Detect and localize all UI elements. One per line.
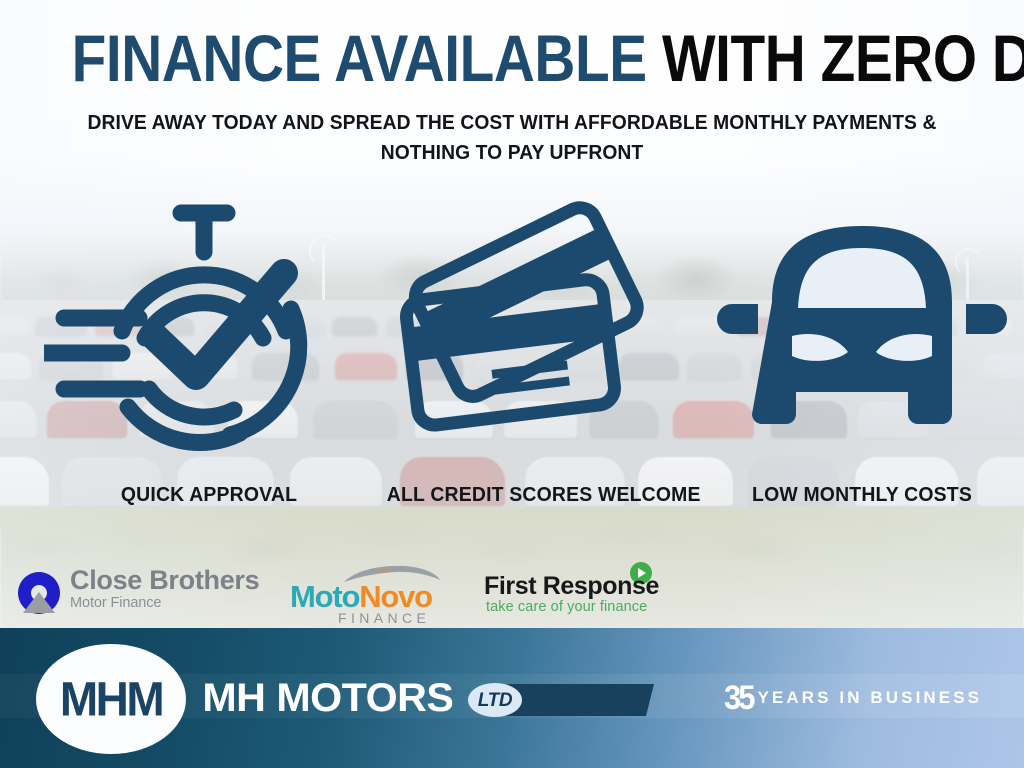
ltd-badge: LTD [468, 683, 522, 717]
feature-all-credit-scores: ALL CREDIT SCORES WELCOME [382, 196, 702, 526]
years-label: YEARS IN BUSINESS [757, 688, 982, 708]
first-response-subtitle: take care of your finance [486, 599, 647, 616]
feature-list: QUICK APPROVAL [0, 196, 1024, 526]
close-brothers-name: Close Brothers [70, 565, 259, 595]
lender-logo-motonovo[interactable]: MotoNovo FINANCE [290, 566, 450, 622]
stopwatch-check-icon [44, 196, 374, 468]
lender-logo-first-response[interactable]: First Response take care of your finance [484, 562, 684, 622]
headline: FINANCE AVAILABLE WITH ZERO DEPOSIT [72, 26, 953, 90]
brand-wordmark: MH MOTORS [202, 676, 453, 720]
close-brothers-mark-icon [16, 570, 62, 616]
feature-caption: QUICK APPROVAL [49, 484, 369, 507]
lender-logo-close-brothers[interactable]: Close Brothers Motor Finance [16, 566, 266, 620]
subheading: DRIVE AWAY TODAY AND SPREAD THE COST WIT… [45, 108, 979, 168]
ltd-badge-label: LTD [478, 691, 513, 710]
motonovo-subtitle: FINANCE [338, 611, 430, 626]
motonovo-wordmark: MotoNovo [290, 580, 432, 614]
credit-cards-icon [382, 196, 702, 468]
finance-promo-banner: FINANCE AVAILABLE WITH ZERO DEPOSIT DRIV… [0, 0, 1024, 768]
motonovo-name-part1: Moto [290, 579, 359, 614]
first-response-name: First Response [484, 572, 659, 600]
headline-part-secondary: WITH ZERO DEPOSIT [662, 21, 1024, 95]
lender-logo-row: Close Brothers Motor Finance MotoNovo FI… [0, 552, 1024, 628]
feature-caption: LOW MONTHLY COSTS [717, 484, 1008, 507]
years-number: 35 [724, 680, 752, 714]
close-brothers-subtitle: Motor Finance [70, 595, 259, 612]
headline-part-primary: FINANCE AVAILABLE [72, 21, 662, 95]
car-front-icon [712, 196, 1012, 468]
mhm-logo-oval[interactable]: MHM [36, 644, 186, 754]
mhm-monogram: MHM [60, 675, 162, 723]
close-brothers-wordmark: Close Brothers Motor Finance [70, 565, 259, 612]
motonovo-name-part2: Novo [359, 579, 432, 614]
headline-block: FINANCE AVAILABLE WITH ZERO DEPOSIT [0, 26, 1024, 90]
feature-low-monthly-costs: LOW MONTHLY COSTS [712, 196, 1012, 526]
feature-caption: ALL CREDIT SCORES WELCOME [387, 484, 697, 507]
feature-quick-approval: QUICK APPROVAL [44, 196, 374, 526]
years-in-business: 35 YEARS IN BUSINESS [724, 682, 982, 713]
